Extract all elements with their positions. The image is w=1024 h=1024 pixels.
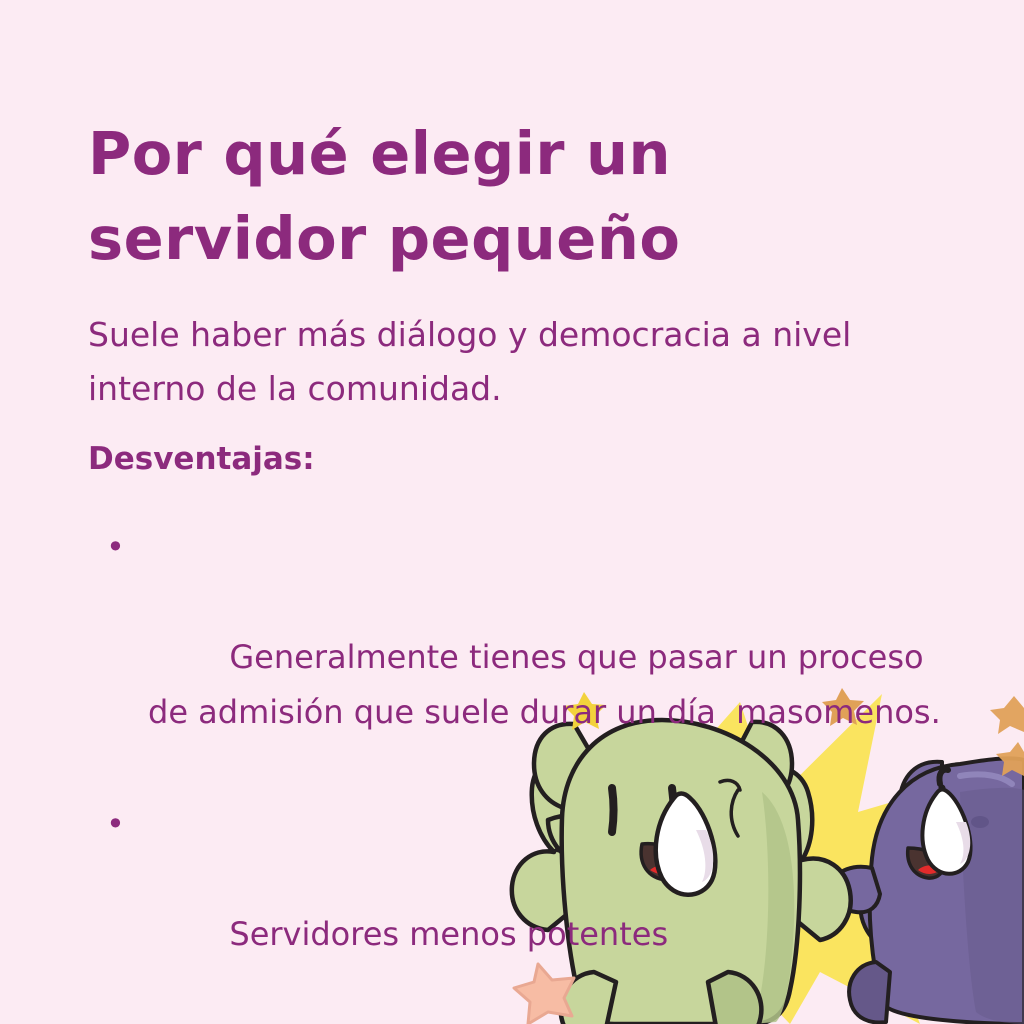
list-item: • Servidores menos potentes xyxy=(100,797,980,1017)
list-item-label: Generalmente tienes que pasar un proceso… xyxy=(148,638,944,731)
bullet-marker: • xyxy=(106,797,125,852)
bullet-marker: • xyxy=(106,1019,125,1024)
slide-canvas: Por qué elegir un servidor pequeño Suele… xyxy=(0,0,1024,1024)
section-label-desventajas: Desventajas: xyxy=(88,441,315,477)
bullet-marker: • xyxy=(106,520,125,575)
disadvantages-list: • Generalmente tienes que pasar un proce… xyxy=(100,520,980,1024)
list-item: • Es deseable ayudar con dinero para man… xyxy=(100,1019,520,1024)
list-item-label: Servidores menos potentes xyxy=(229,915,668,953)
text-content: Por qué elegir un servidor pequeño Suele… xyxy=(88,0,968,1024)
page-title: Por qué elegir un servidor pequeño xyxy=(88,112,878,282)
list-item: • Generalmente tienes que pasar un proce… xyxy=(100,520,980,795)
subtitle-paragraph: Suele haber más diálogo y democracia a n… xyxy=(88,308,898,417)
